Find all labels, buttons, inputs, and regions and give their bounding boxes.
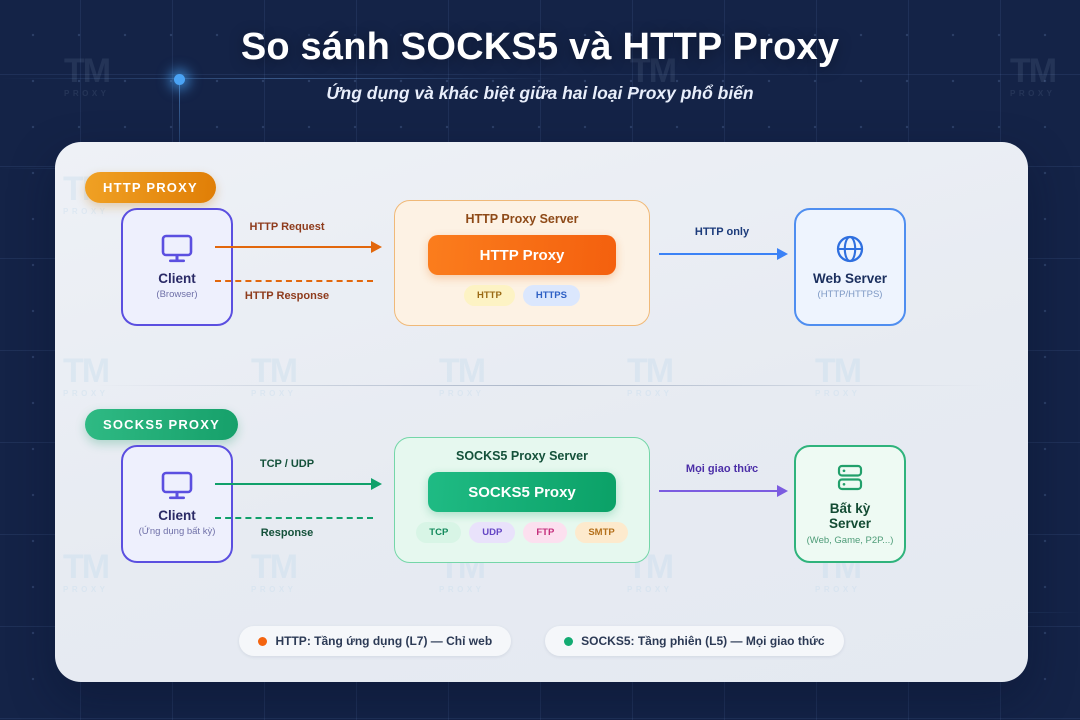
web-server-box[interactable]: Web Server (HTTP/HTTPS)	[794, 208, 906, 326]
web-server-subtitle: (HTTP/HTTPS)	[818, 289, 883, 300]
socks5-client-box[interactable]: Client (Ứng dụng bất kỳ)	[121, 445, 233, 563]
http-request-line	[215, 246, 373, 248]
http-response-label: HTTP Response	[245, 290, 329, 302]
http-request-arrowhead	[371, 241, 382, 253]
socks5-protocol-tags: TCP UDP FTP SMTP	[416, 522, 627, 543]
watermark: TM PROXY	[627, 354, 673, 398]
socks5-proxy-server-panel[interactable]: SOCKS5 Proxy Server SOCKS5 Proxy TCP UDP…	[394, 437, 650, 563]
socks5-client-title: Client	[158, 508, 196, 524]
badge-socks5-proxy: SOCKS5 PROXY	[85, 409, 238, 440]
tag-smtp[interactable]: SMTP	[575, 522, 627, 543]
tcp-udp-label: TCP / UDP	[260, 458, 314, 470]
http-proxy-flow-row: Client (Browser) HTTP Request HTTP Respo…	[55, 202, 1028, 332]
monitor-icon	[160, 471, 194, 501]
tcp-udp-arrowhead	[371, 478, 382, 490]
socks5-proxy-server-title: SOCKS5 Proxy Server	[456, 449, 588, 463]
header: So sánh SOCKS5 và HTTP Proxy Ứng dụng và…	[0, 26, 1080, 104]
monitor-icon	[160, 234, 194, 264]
legend: HTTP: Tầng ứng dụng (L7) — Chỉ web SOCKS…	[55, 626, 1028, 656]
all-protocols-line	[659, 490, 779, 492]
socks5-response-line	[215, 517, 373, 519]
http-only-label: HTTP only	[695, 226, 749, 238]
server-rack-icon	[834, 462, 866, 494]
tag-ftp[interactable]: FTP	[523, 522, 567, 543]
page-title: So sánh SOCKS5 và HTTP Proxy	[0, 26, 1080, 69]
socks5-response-label: Response	[261, 527, 314, 539]
legend-item-http: HTTP: Tầng ứng dụng (L7) — Chỉ web	[239, 626, 511, 656]
socks5-proxy-flow-row: Client (Ứng dụng bất kỳ) TCP / UDP Respo…	[55, 439, 1028, 569]
legend-dot-icon	[258, 637, 267, 646]
http-response-line	[215, 280, 373, 282]
http-client-box[interactable]: Client (Browser)	[121, 208, 233, 326]
watermark: TM PROXY	[815, 354, 861, 398]
http-proxy-server-title: HTTP Proxy Server	[465, 212, 578, 226]
all-protocols-arrowhead	[777, 485, 788, 497]
tag-tcp[interactable]: TCP	[416, 522, 461, 543]
http-client-subtitle: (Browser)	[156, 289, 197, 300]
http-only-line	[659, 253, 779, 255]
any-server-title: Bất kỳ Server	[810, 501, 890, 532]
watermark: TM PROXY	[63, 354, 109, 398]
http-protocol-tags: HTTP HTTPS	[464, 285, 580, 306]
tag-udp[interactable]: UDP	[469, 522, 515, 543]
section-divider	[95, 385, 988, 386]
any-server-subtitle: (Web, Game, P2P...)	[807, 535, 894, 546]
legend-item-socks5-label: SOCKS5: Tầng phiên (L5) — Mọi giao thức	[581, 634, 824, 648]
diagram-card: TM PROXY TM PROXY TM PROXY TM PROXY TM P…	[55, 142, 1028, 682]
globe-icon	[835, 234, 865, 264]
any-server-box[interactable]: Bất kỳ Server (Web, Game, P2P...)	[794, 445, 906, 563]
http-request-label: HTTP Request	[250, 221, 325, 233]
legend-item-http-label: HTTP: Tầng ứng dụng (L7) — Chỉ web	[275, 634, 492, 648]
watermark: TM PROXY	[439, 354, 485, 398]
http-proxy-pill[interactable]: HTTP Proxy	[428, 235, 616, 275]
badge-http-proxy: HTTP PROXY	[85, 172, 216, 203]
socks5-client-subtitle: (Ứng dụng bất kỳ)	[139, 526, 216, 537]
http-only-arrowhead	[777, 248, 788, 260]
socks5-proxy-pill[interactable]: SOCKS5 Proxy	[428, 472, 616, 512]
tag-http[interactable]: HTTP	[464, 285, 515, 306]
web-server-title: Web Server	[813, 271, 887, 287]
legend-item-socks5: SOCKS5: Tầng phiên (L5) — Mọi giao thức	[545, 626, 843, 656]
tag-https[interactable]: HTTPS	[523, 285, 580, 306]
http-proxy-server-panel[interactable]: HTTP Proxy Server HTTP Proxy HTTP HTTPS	[394, 200, 650, 326]
http-client-title: Client	[158, 271, 196, 287]
watermark: TM PROXY	[251, 354, 297, 398]
all-protocols-label: Mọi giao thức	[686, 463, 758, 475]
page-subtitle: Ứng dụng và khác biệt giữa hai loại Prox…	[0, 83, 1080, 104]
legend-dot-icon	[564, 637, 573, 646]
tcp-udp-line	[215, 483, 373, 485]
